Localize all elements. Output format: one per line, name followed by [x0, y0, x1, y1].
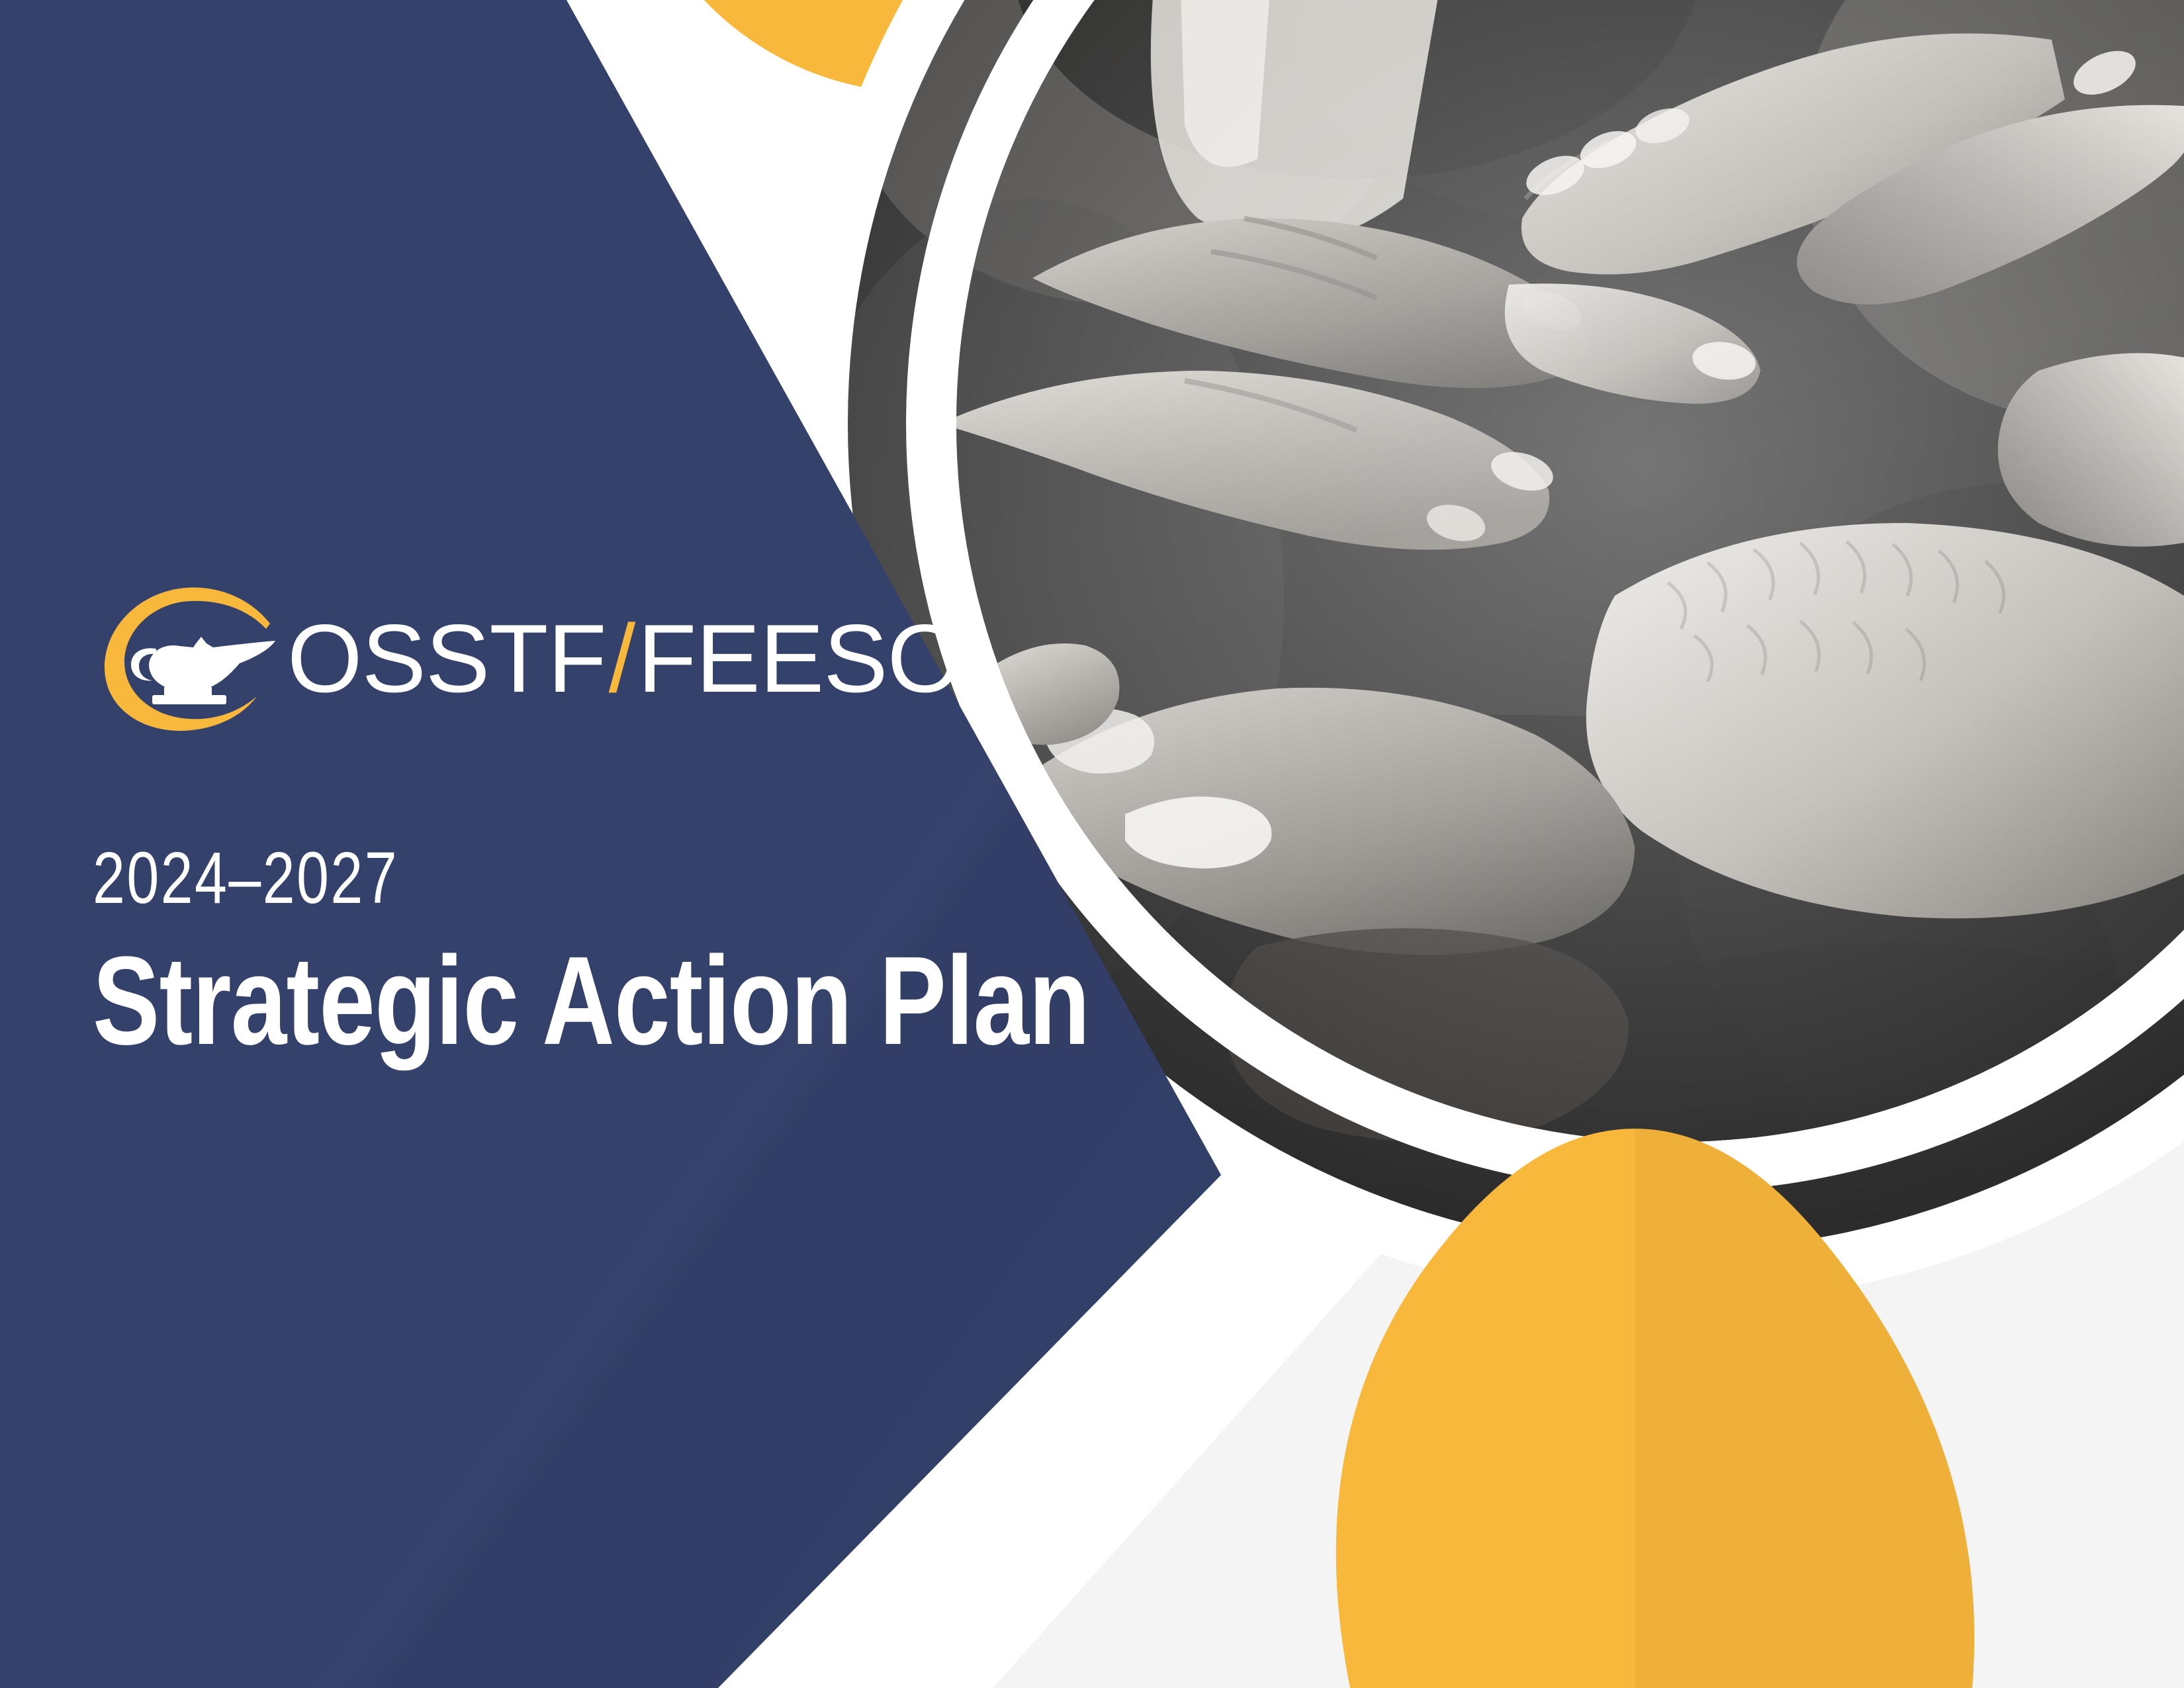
wordmark-feeso: FEESO	[637, 610, 962, 707]
wordmark-osstf: OSSTF	[287, 610, 606, 707]
cover-text-block: OSSTF / FEESO 2024–2027 Strategic Action…	[93, 583, 953, 1066]
lamp-of-learning-icon	[93, 583, 291, 735]
page-title: Strategic Action Plan	[93, 937, 781, 1066]
cover-years: 2024–2027	[93, 842, 781, 915]
cover-page: OSSTF / FEESO 2024–2027 Strategic Action…	[0, 0, 2184, 1688]
brand-wordmark: OSSTF / FEESO	[287, 610, 962, 707]
brand-logo: OSSTF / FEESO	[93, 583, 953, 735]
wordmark-separator: /	[606, 610, 638, 707]
